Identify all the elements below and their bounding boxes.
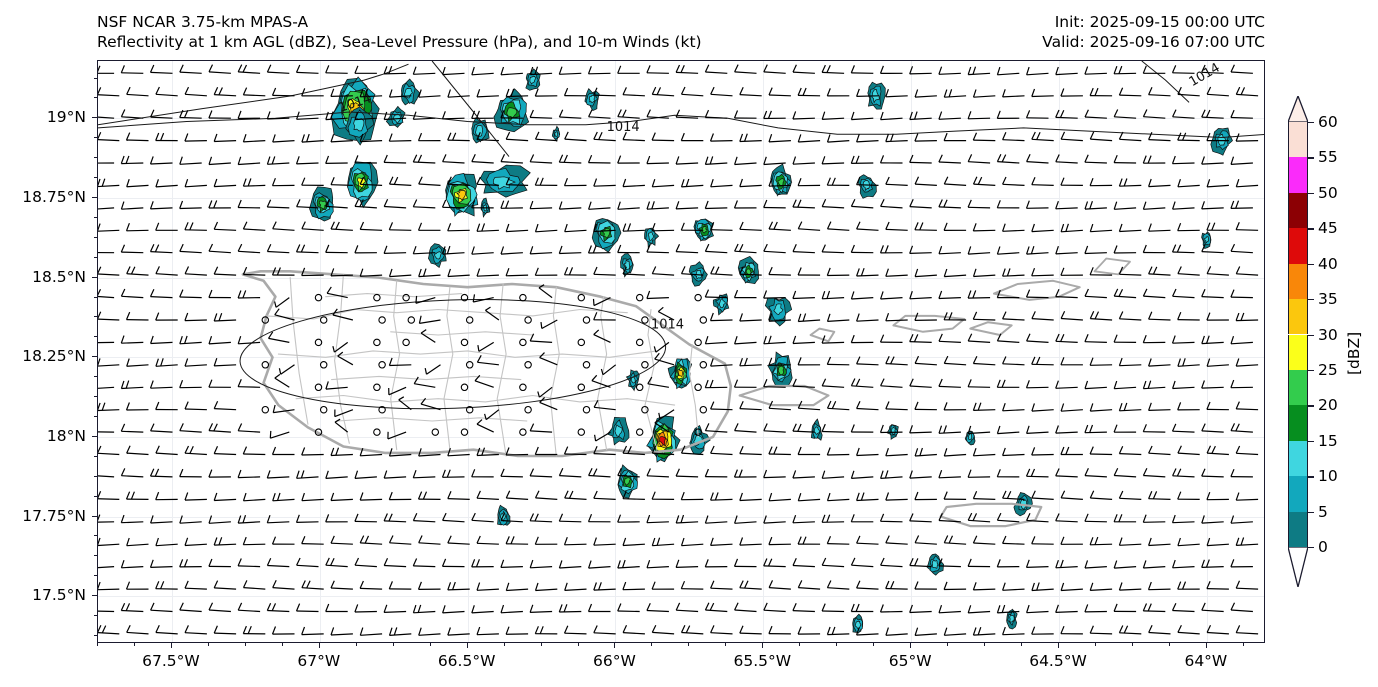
contour-label: 1014 [607,120,640,135]
wind-barb [360,222,382,230]
wind-barb [209,65,231,74]
wind-barb [331,536,353,544]
wind-barb [530,110,552,118]
wind-barb [1143,468,1165,477]
wind-barb [1027,290,1049,298]
wind-barb [565,267,587,275]
wind-barb [302,493,324,501]
wind-barb [273,134,295,142]
x-axis-minor-tick [541,643,542,646]
wind-barb [939,200,961,208]
wind-barb [209,201,231,209]
x-axis-label: 64°W [1184,652,1227,670]
wind-barb [1032,132,1054,141]
wind-barb [506,132,528,141]
wind-barb [1231,380,1253,388]
wind-barb [98,358,119,366]
wind-barb [1056,605,1078,613]
wind-barb [711,313,733,321]
x-axis-label: 66.5°W [438,652,496,670]
y-axis-minor-tick [94,575,97,576]
wind-barb [1003,357,1025,365]
wind-barb [793,111,815,119]
wind-barb [448,133,470,141]
wind-barb [1178,446,1200,455]
y-axis-minor-tick [94,376,97,377]
wind-barb [1119,267,1141,275]
wind-barb [389,222,411,230]
wind-barb [711,581,733,589]
wind-barb [1231,244,1253,253]
wind-barb [939,379,961,387]
y-axis-minor-tick [94,78,97,79]
wind-barb [968,200,990,208]
wind-barb [974,90,996,98]
colorbar-under-arrow [1288,547,1308,587]
wind-barb [623,538,645,546]
wind-barb [997,247,1019,255]
wind-barb [501,247,523,255]
wind-barb [326,245,348,253]
reflectivity-colorbar[interactable] [1288,122,1308,547]
wind-barb [297,156,319,164]
wind-barb [1061,447,1083,455]
wind-barb [243,178,265,186]
wind-barb [1003,583,1025,591]
wind-barb [530,469,552,477]
colorbar-title: [dBZ] [1345,332,1363,375]
wind-barb [798,134,820,142]
wind-barb [595,432,611,441]
wind-barb [939,67,961,75]
wind-barb [881,245,903,253]
wind-barb [1085,514,1107,522]
wind-barb [209,516,231,524]
wind-barb [214,446,236,454]
x-axis-tick [614,643,615,648]
wind-barb [822,471,844,479]
wind-barb [1056,201,1078,209]
wind-barb [98,468,114,477]
x-axis-tick [1058,643,1059,648]
wind-barb [1149,446,1171,455]
wind-barb [520,384,526,390]
wind-barb [1027,605,1049,613]
x-axis-minor-tick [282,643,283,646]
wind-barb [1090,537,1112,545]
wind-barb [944,536,966,545]
wind-barb [530,201,552,209]
wind-barb [477,491,499,500]
wind-barb [461,339,467,345]
wind-barb [297,65,319,73]
wind-barb [939,425,961,433]
wind-barb [851,245,873,253]
colorbar-over-arrow [1288,96,1308,122]
wind-barb [413,155,435,163]
wind-barb [98,156,114,164]
wind-barb [413,559,435,567]
wind-barb [506,583,528,591]
wind-barb [416,296,435,303]
wind-barb [1178,582,1200,590]
wind-barb [302,222,324,231]
wind-barb [156,581,178,589]
wind-barb [886,222,908,230]
wind-barb [711,87,733,96]
wind-barb [1027,469,1049,477]
wind-barb [1061,132,1083,141]
wind-barb [1143,245,1165,253]
county-boundary [391,332,533,335]
wind-barb [968,605,990,613]
wind-barb [214,626,236,634]
wind-barb [857,581,879,589]
wind-barb [1119,491,1141,499]
wind-barb [1173,202,1195,210]
wind-barb [156,358,178,366]
wind-barb [740,401,762,409]
wind-barb [413,470,435,478]
wind-barb [374,384,380,390]
wind-barb [583,317,589,323]
wind-barb [419,133,441,141]
wind-barb [711,538,733,546]
wind-barb [472,605,494,613]
wind-barb [389,581,411,589]
colorbar-segment [1288,122,1308,157]
wind-barb [851,425,873,433]
wind-barb [1173,289,1195,298]
wind-barb [1236,313,1258,321]
wind-barb [326,558,348,567]
wind-barb [98,87,119,95]
wind-barb [828,134,850,142]
wind-barb [127,359,149,367]
wind-barb [968,559,990,567]
wind-barb [769,134,791,142]
wind-barb [151,560,173,568]
colorbar-tick [1308,335,1314,336]
wind-barb [1149,359,1171,367]
wind-barb [857,448,879,456]
wind-barb [214,134,236,142]
wind-barb [1119,446,1141,454]
wind-barb [735,244,757,253]
wind-barb [520,429,526,435]
wind-barb [647,245,669,253]
wind-barb [1032,224,1054,232]
wind-barb [881,112,903,120]
wind-barb [1173,245,1195,253]
wind-barb [915,177,937,186]
wind-barb [414,377,435,387]
wind-barb [822,112,844,120]
wind-barb [477,583,499,591]
wind-barb [647,291,669,299]
wind-barb [238,379,260,387]
reflectivity-cell [932,560,938,568]
wind-barb [822,156,844,164]
wind-barb [520,339,526,345]
wind-barb [297,245,319,253]
wind-barb [530,334,552,343]
wind-barb [151,381,173,389]
wind-barb [214,87,236,96]
colorbar-tick [1308,122,1314,123]
wind-barb [735,470,757,478]
wind-barb [559,155,581,163]
wind-barb [682,625,704,634]
wind-barb [535,89,557,97]
wind-barb [915,90,937,98]
wind-barb [973,403,995,411]
wind-barb [302,134,324,142]
wind-barb [857,493,879,501]
wind-barb [355,471,377,479]
colorbar-tick [1308,441,1314,442]
wind-barb [243,222,265,231]
wind-barb [127,582,149,590]
wind-barb [98,179,119,187]
wind-barb [1143,604,1165,612]
wind-barb [326,514,348,522]
wind-barb [443,111,465,119]
wind-barb [1114,514,1136,522]
wind-barb [851,199,873,208]
wind-barb [326,604,348,612]
wind-barb [209,603,231,612]
wind-barb [1202,381,1224,389]
wind-barb [915,222,937,230]
wind-barb [764,200,786,208]
wind-barb [881,199,903,208]
wind-barb [681,492,703,500]
wind-barb [910,605,932,613]
wind-barb [881,335,903,343]
wind-barb [214,267,236,275]
wind-barb [1061,537,1083,545]
wind-barb [1119,224,1141,232]
wind-barb [209,380,231,388]
wind-barb [1236,538,1258,546]
x-axis-minor-tick [873,643,874,646]
wind-barb [1032,447,1054,455]
wind-barb [384,199,406,208]
reflectivity-cell [555,132,558,137]
wind-barb [944,448,966,456]
wind-barb [915,582,937,590]
wind-barb [578,429,584,435]
wind-barb [559,110,581,119]
wind-barb [1149,312,1171,320]
colorbar-segment [1288,193,1308,228]
wind-barb [1090,224,1112,232]
y-axis-minor-tick [94,97,97,98]
wind-barb [798,178,820,186]
x-axis-label: 67°W [297,652,340,670]
wind-barb [1173,515,1195,523]
county-boundary [296,396,674,406]
wind-barb [886,493,908,501]
wind-barb [214,493,236,501]
wind-barb [637,339,643,345]
map-plot-area[interactable]: 1014101410141014 [97,60,1265,643]
wind-barb [121,381,143,389]
wind-barb [530,155,552,164]
wind-barb [973,133,995,141]
wind-barb [740,313,762,321]
wind-barb [886,269,908,277]
wind-barb [997,426,1019,434]
wind-barb [886,177,908,185]
wind-barb [501,154,523,163]
wind-barb [851,604,873,612]
wind-barb [270,431,289,438]
wind-barb [740,626,762,634]
wind-barb [389,358,411,366]
wind-barb [273,178,295,186]
wind-barb [915,628,937,636]
wind-barb [1143,381,1165,389]
wind-barb [1085,334,1107,342]
wind-barb [315,294,321,300]
wind-barb [374,429,380,435]
wind-barb [127,87,149,96]
wind-barb [1143,202,1165,210]
wind-barb [214,537,236,545]
wind-barb [262,362,268,368]
colorbar-tick-label: 10 [1318,467,1338,485]
x-axis-minor-tick [1021,643,1022,646]
wind-barb [851,558,873,567]
wind-barb [583,407,589,413]
wind-barb [881,291,903,299]
wind-barb [1173,560,1195,568]
y-axis-minor-tick [94,635,97,636]
wind-barb [618,560,640,568]
county-boundary [444,287,453,450]
wind-barb [443,67,465,75]
x-axis-tick [1206,643,1207,648]
wind-barb [1236,267,1258,276]
y-axis-minor-tick [94,297,97,298]
wind-barb [910,66,932,74]
x-axis-tick [319,643,320,648]
wind-barb [910,199,932,208]
colorbar-segment [1288,476,1308,511]
wind-barb [798,447,820,455]
wind-barb [705,336,727,344]
wind-barb [1085,425,1107,433]
wind-barb [1178,358,1200,366]
wind-barb [536,224,558,232]
wind-barb [1143,66,1165,74]
wind-barb [764,244,786,253]
wind-barb [1061,404,1083,412]
wind-barb [1056,560,1078,568]
wind-barb [676,65,698,73]
wind-barb [618,245,640,253]
colorbar-tick [1308,512,1314,513]
wind-barb [98,538,119,546]
wind-barb [535,626,557,634]
wind-barb [735,157,757,165]
wind-barb [589,110,611,119]
wind-barb [735,603,757,612]
wind-barb [764,559,786,567]
wind-barb [156,266,178,275]
wind-barb [180,380,202,388]
wind-barb [501,67,523,75]
wind-barb [501,469,523,477]
x-axis-minor-tick [651,643,652,646]
wind-barb [915,536,937,545]
wind-barb [851,112,873,120]
wind-barb [419,492,441,500]
y-axis-minor-tick [94,336,97,337]
x-axis-tick [910,643,911,648]
wind-barb [267,470,289,478]
wind-barb [180,110,202,118]
wind-barb [1056,155,1078,164]
title-block: NSF NCAR 3.75-km MPAS-A Reflectivity at … [97,12,702,52]
wind-barb [1143,424,1165,432]
wind-barb [565,88,587,96]
wind-barb [302,627,324,635]
wind-barb [1090,88,1112,96]
wind-barb [559,604,581,612]
wind-barb [1149,179,1171,187]
wind-barb [973,312,995,320]
wind-barb [705,469,727,477]
wind-barb [214,313,236,321]
wind-barb [1085,246,1107,254]
wind-barb [443,154,465,163]
colorbar-segment [1288,264,1308,299]
colorbar-tick-label: 45 [1318,219,1338,237]
wind-barb [851,65,873,73]
wind-barb [1085,110,1107,119]
wind-barb [530,246,552,254]
wind-barb [448,582,470,590]
wind-barb [828,314,850,322]
wind-barb [886,356,908,365]
map-canvas: 1014101410141014 [98,61,1264,642]
wind-barb [798,537,820,545]
wind-barb [939,605,961,613]
wind-barb [1027,154,1049,163]
colorbar-segment [1288,157,1308,192]
wind-barb [121,424,143,432]
wind-barb [1119,626,1141,634]
wind-barb [1202,157,1224,165]
wind-barb [705,156,727,164]
wind-barb [472,247,494,255]
wind-barb [156,446,178,455]
y-axis-label: 17.5°N [32,586,86,604]
wind-barb [857,357,879,365]
wind-barb [886,448,908,456]
county-boundary-layer [267,274,699,456]
wind-barb [421,398,441,410]
wind-barb [623,582,645,590]
wind-barb [477,627,499,635]
wind-barb [244,493,266,501]
wind-barb [185,493,207,501]
wind-barb [939,246,961,254]
wind-barb [1027,560,1049,568]
